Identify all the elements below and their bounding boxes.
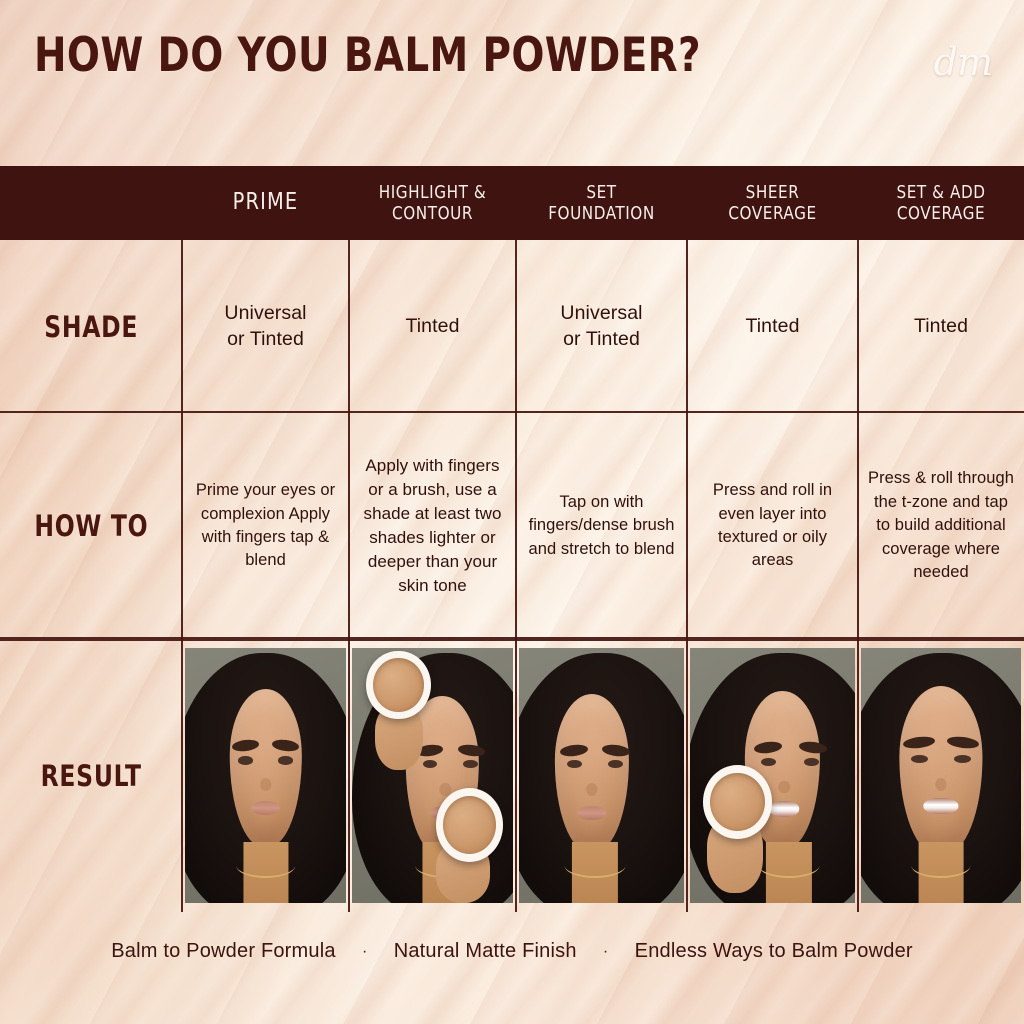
- tagline-2: Natural Matte Finish: [394, 940, 577, 963]
- header-cell-highlight-contour: HIGHLIGHT & CONTOUR: [354, 166, 511, 240]
- result-photo-set-add-coverage: [858, 639, 1024, 912]
- header-line-2: COVERAGE: [728, 203, 816, 224]
- header-line-2: COVERAGE: [897, 203, 985, 224]
- howto-cell-set-foundation: Tap on with fingers/dense brush and stre…: [516, 413, 687, 639]
- table-header-row: PRIME HIGHLIGHT & CONTOUR SET FOUNDATION…: [0, 166, 1024, 240]
- howto-cell-highlight-contour: Apply with fingers or a brush, use a sha…: [349, 413, 516, 639]
- header-line-2: FOUNDATION: [548, 203, 655, 224]
- table-row-result: RESULT: [0, 639, 1024, 912]
- header-cell-prime: PRIME: [187, 166, 344, 240]
- tagline-3: Endless Ways to Balm Powder: [635, 940, 913, 963]
- result-photo-sheer-coverage: [687, 639, 858, 912]
- header-line-1: HIGHLIGHT &: [379, 182, 487, 203]
- howto-cell-sheer-coverage: Press and roll in even layer into textur…: [687, 413, 858, 639]
- result-photo-set-foundation: [516, 639, 687, 912]
- header-line-1: SHEER: [746, 182, 800, 203]
- shade-cell-prime: Universalor Tinted: [182, 240, 349, 413]
- shade-cell-set-add-coverage: Tinted: [858, 240, 1024, 413]
- row-label-how-to: HOW TO: [0, 413, 182, 639]
- page-title: HOW DO YOU BALM POWDER?: [34, 28, 701, 83]
- header-line-1: SET & ADD: [896, 182, 985, 203]
- howto-cell-set-add-coverage: Press & roll through the t-zone and tap …: [858, 413, 1024, 639]
- compact-icon: [436, 788, 504, 862]
- header-cell-sheer-coverage: SHEER COVERAGE: [692, 166, 853, 240]
- table-row-shade: SHADE Universalor Tinted Tinted Universa…: [0, 240, 1024, 413]
- footer-taglines: Balm to Powder Formula · Natural Matte F…: [0, 940, 1024, 963]
- table-row-how-to: HOW TO Prime your eyes or complexion App…: [0, 413, 1024, 639]
- shade-cell-highlight-contour: Tinted: [349, 240, 516, 413]
- separator-dot: ·: [577, 943, 635, 961]
- row-label-shade: SHADE: [0, 240, 182, 413]
- header-line-1: SET: [586, 182, 616, 203]
- comparison-table: PRIME HIGHLIGHT & CONTOUR SET FOUNDATION…: [0, 166, 1024, 912]
- brand-logo: dm: [934, 40, 992, 84]
- shade-cell-sheer-coverage: Tinted: [687, 240, 858, 413]
- header-cell-set-add-coverage: SET & ADD COVERAGE: [863, 166, 1019, 240]
- header-corner-cell: [5, 166, 176, 240]
- row-label-result: RESULT: [0, 639, 182, 912]
- infographic-page: HOW DO YOU BALM POWDER? dm PRIME HIGHLIG…: [0, 0, 1024, 1024]
- howto-cell-prime: Prime your eyes or complexion Apply with…: [182, 413, 349, 639]
- header-line-2: CONTOUR: [392, 203, 473, 224]
- shade-cell-set-foundation: Universalor Tinted: [516, 240, 687, 413]
- separator-dot: ·: [336, 943, 394, 961]
- compact-icon: [366, 651, 430, 720]
- header-cell-set-foundation: SET FOUNDATION: [521, 166, 682, 240]
- result-photo-prime: [182, 639, 349, 912]
- result-photo-highlight-contour: [349, 639, 516, 912]
- tagline-1: Balm to Powder Formula: [111, 940, 335, 963]
